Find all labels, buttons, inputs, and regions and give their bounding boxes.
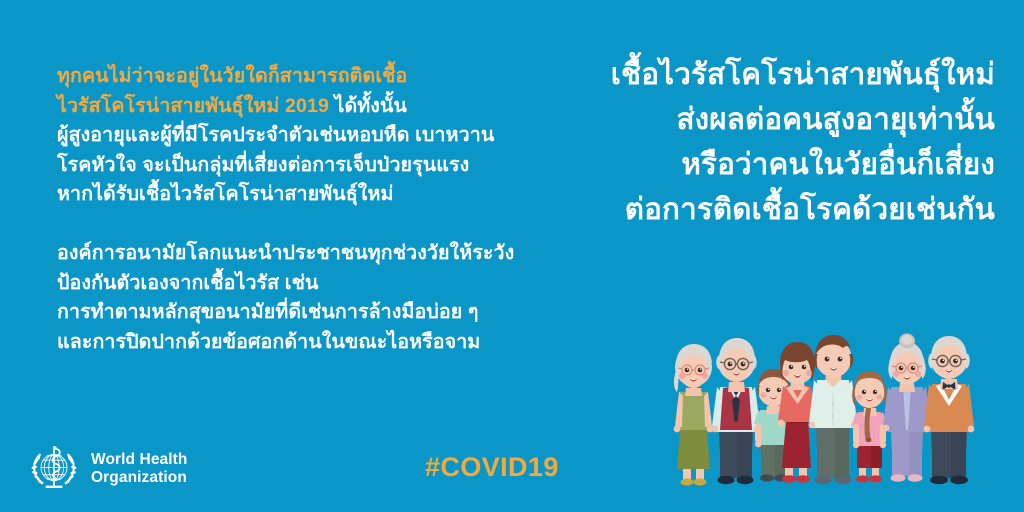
headline: เชื้อไวรัสโคโรน่าสายพันธุ์ใหม่ ส่งผลต่อค… [525,52,995,232]
headline-line-4: ต่อการติดเชื้อโรคด้วยเช่นกัน [525,187,995,232]
person-girl-child-braid [852,371,887,483]
family-illustration [663,330,1008,490]
person-adult-man-center [809,335,858,484]
poster-canvas: ทุกคนไม่ว่าจะอยู่ในวัยใดก็สามารถติดเชื้อ… [0,0,1024,512]
body-p1-line-2-orange: ไวรัสโคโรน่าสายพันธุ์ใหม่ 2019 [57,95,329,117]
who-logo: World Health Organization [28,443,188,495]
person-elderly-woman-left [674,344,714,486]
who-wordmark: World Health Organization [91,451,188,488]
body-p2-line-2: ป้องกันตัวเองจากเชื้อไวรัส เช่น [57,269,557,299]
body-p2-line-1: องค์การอนามัยโลกแนะนำประชาชนทุกช่วงวัยให… [57,239,557,269]
hashtag-covid19: #COVID19 [425,452,559,483]
body-p1-line-2: ไวรัสโคโรน่าสายพันธุ์ใหม่ 2019 ได้ทั้งนั… [57,92,557,122]
person-elderly-man-vest [712,338,761,484]
headline-line-2: ส่งผลต่อคนสูงอายุเท่านั้น [525,97,995,142]
body-p1-line-4: โรคหัวใจ จะเป็นกลุ่มที่เสี่ยงต่อการเจ็บป… [57,151,557,181]
body-paragraph-1: ทุกคนไม่ว่าจะอยู่ในวัยใดก็สามารถติดเชื้อ… [57,62,557,210]
body-p1-line-3: ผู้สูงอายุและผู้ที่มีโรคประจำตัวเช่นหอบห… [57,121,557,151]
who-wordmark-line-2: Organization [91,469,188,488]
headline-line-1: เชื้อไวรัสโคโรน่าสายพันธุ์ใหม่ [525,52,995,97]
body-p1-line-5: หากได้รับเชื้อไวรัสโคโรน่าสายพันธุ์ใหม่ [57,180,557,210]
body-p2-line-3: การทำตามหลักสุขอนามัยที่ดีเช่นการล้างมือ… [57,298,557,328]
who-wordmark-line-1: World Health [91,451,188,470]
person-elderly-man-sweater [924,336,975,484]
body-p1-line-2-white: ได้ทั้งนั้น [335,95,407,117]
who-emblem-icon [28,443,80,495]
body-copy: ทุกคนไม่ว่าจะอยู่ในวัยใดก็สามารถติดเชื้อ… [57,62,557,357]
body-p2-line-4: และการปิดปากด้วยข้อศอกด้านในขณะไอหรือจาม [57,328,557,358]
person-elderly-woman-bun [883,334,932,482]
body-paragraph-2: องค์การอนามัยโลกแนะนำประชาชนทุกช่วงวัยให… [57,239,557,357]
body-p1-line-1: ทุกคนไม่ว่าจะอยู่ในวัยใดก็สามารถติดเชื้อ [57,62,557,92]
headline-line-3: หรือว่าคนในวัยอื่นก็เสี่ยง [525,142,995,187]
